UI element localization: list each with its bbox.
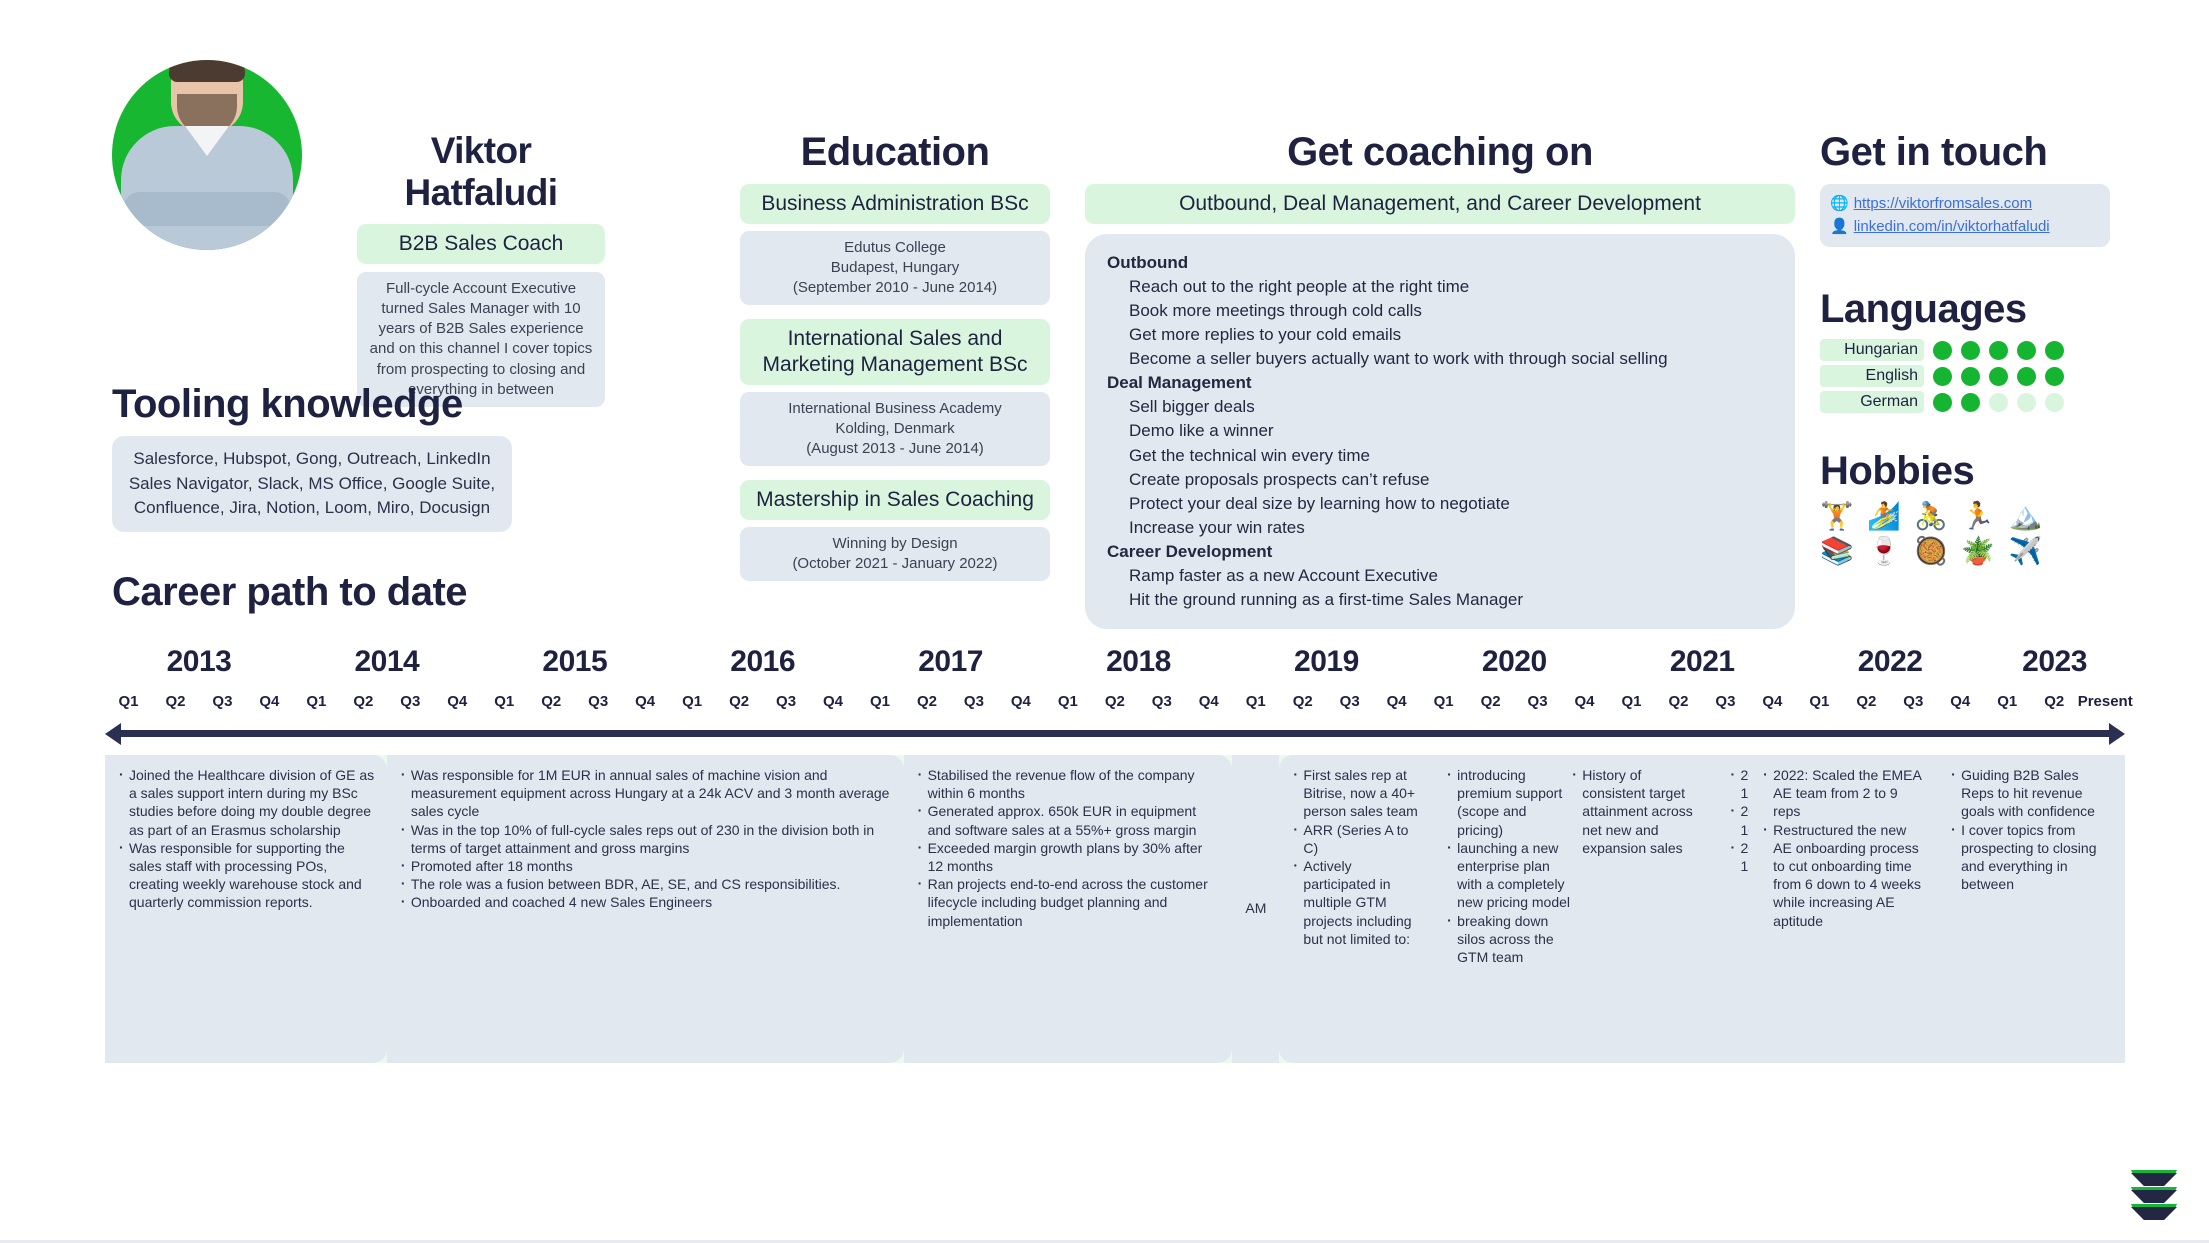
timeline-quarter-label: Q4	[622, 693, 669, 710]
timeline-year-label: 2015	[481, 645, 669, 679]
person-icon: 👤	[1830, 216, 1849, 239]
timeline-quarter-label: Q4	[1185, 693, 1232, 710]
level-dot	[1989, 341, 2008, 360]
coaching-item: Increase your win rates	[1107, 516, 1773, 540]
coaching-item: Get the technical win every time	[1107, 444, 1773, 468]
avatar	[112, 60, 302, 250]
detail-bullet: Exceeded margin growth plans by 30% afte…	[916, 839, 1221, 875]
career-heading: Career path to date	[112, 570, 467, 614]
detail-bullet: Guiding B2B Sales Reps to hit revenue go…	[1949, 766, 2113, 821]
hobbies-heading: Hobbies	[1820, 449, 2110, 493]
detail-bullet: Stabilised the revenue flow of the compa…	[916, 766, 1221, 802]
timeline-year-label: 2013	[105, 645, 293, 679]
timeline-year-label: 2017	[857, 645, 1045, 679]
timeline-quarter-label: Q4	[1561, 693, 1608, 710]
avatar-hair	[169, 60, 245, 82]
resume-infographic: Viktor Hatfaludi B2B Sales Coach Full-cy…	[0, 0, 2209, 1243]
coaching-group-label: Outbound	[1107, 251, 1773, 275]
timeline-quarter-label: Q1	[1044, 693, 1091, 710]
timeline-role-bar[interactable]: AM	[1232, 755, 1279, 1063]
timeline-quarter-label: Q1	[1232, 693, 1279, 710]
level-dot	[1989, 393, 2008, 412]
timeline-year-label: 2020	[1420, 645, 1608, 679]
coaching-item: Become a seller buyers actually want to …	[1107, 347, 1773, 371]
level-dot	[2045, 367, 2064, 386]
timeline-quarter-label: Q4	[1749, 693, 1796, 710]
timeline-quarter-label: Q4	[1937, 693, 1984, 710]
timeline-quarter-label: Q2	[1279, 693, 1326, 710]
detail-bullet: Ran projects end-to-end across the custo…	[916, 875, 1221, 930]
identity-block: Viktor Hatfaludi B2B Sales Coach Full-cy…	[357, 130, 605, 407]
coaching-section: Get coaching on Outbound, Deal Managemen…	[1085, 130, 1795, 629]
timeline-quarter-label: Q3	[1702, 693, 1749, 710]
coaching-group-label: Deal Management	[1107, 371, 1773, 395]
detail-bullet: launching a new enterprise plan with a c…	[1445, 839, 1570, 912]
coaching-item: Reach out to the right people at the rig…	[1107, 275, 1773, 299]
timeline-quarter-label: Present	[2078, 693, 2125, 710]
axis-arrow-right-icon	[2109, 723, 2125, 745]
education-detail: Winning by Design (October 2021 - Januar…	[740, 527, 1050, 582]
language-row: Hungarian	[1820, 339, 2110, 361]
timeline-year-label: 2018	[1045, 645, 1233, 679]
language-level	[1933, 367, 2064, 386]
language-name: English	[1820, 365, 1924, 387]
level-dot	[2017, 393, 2036, 412]
coaching-item: Sell bigger deals	[1107, 395, 1773, 419]
education-detail: International Business Academy Kolding, …	[740, 392, 1050, 467]
timeline-quarter-label: Q2	[340, 693, 387, 710]
detail-bullet: breaking down silos across the GTM team	[1445, 912, 1570, 967]
timeline-quarter-label: Q3	[1138, 693, 1185, 710]
level-dot	[1933, 367, 1952, 386]
detail-bullet: I cover topics from prospecting to closi…	[1949, 821, 2113, 894]
timeline-quarter-label: Q1	[481, 693, 528, 710]
tooling-body: Salesforce, Hubspot, Gong, Outreach, Lin…	[112, 436, 512, 532]
detail-bullet: Actively participated in multiple GTM pr…	[1291, 857, 1423, 948]
timeline-quarter-label: Q1	[669, 693, 716, 710]
level-dot	[2045, 341, 2064, 360]
detail-bullet: The role was a fusion between BDR, AE, S…	[399, 875, 892, 893]
coaching-subtitle: Outbound, Deal Management, and Career De…	[1085, 184, 1795, 224]
timeline-year-label: 2019	[1232, 645, 1420, 679]
timeline-quarter-label: Q3	[950, 693, 997, 710]
education-detail: Edutus College Budapest, Hungary (Septem…	[740, 231, 1050, 306]
coaching-item: Get more replies to your cold emails	[1107, 323, 1773, 347]
coaching-item: Protect your deal size by learning how t…	[1107, 492, 1773, 516]
timeline-quarter-label: Q1	[1608, 693, 1655, 710]
timeline-quarter-label: Q2	[1655, 693, 1702, 710]
education-section: Education Business Administration BSc Ed…	[740, 130, 1050, 581]
timeline-details-row: Joined the Healthcare division of GE as …	[105, 873, 2125, 1063]
language-level	[1933, 393, 2064, 412]
coaching-item: Ramp faster as a new Account Executive	[1107, 564, 1773, 588]
timeline-year-label: 2023	[1984, 645, 2125, 679]
language-row: German	[1820, 391, 2110, 413]
languages-heading: Languages	[1820, 287, 2110, 331]
timeline-quarter-label: Q1	[1984, 693, 2031, 710]
timeline-quarter-label: Q1	[1796, 693, 1843, 710]
tooling-section: Tooling knowledge Salesforce, Hubspot, G…	[112, 382, 512, 532]
timeline-quarter-label: Q2	[903, 693, 950, 710]
contact-website-row[interactable]: 🌐 https://viktorfromsales.com	[1830, 193, 2100, 216]
timeline-quarter-label: Q2	[716, 693, 763, 710]
languages-list: Hungarian English	[1820, 339, 2110, 413]
timeline-detail-box: Was responsible for 1M EUR in annual sal…	[387, 755, 904, 1063]
detail-bullet: History of consistent target attainment …	[1570, 766, 1706, 857]
brand-logo-icon	[2131, 1173, 2177, 1221]
website-link[interactable]: https://viktorfromsales.com	[1854, 193, 2032, 216]
coaching-item: Demo like a winner	[1107, 419, 1773, 443]
career-timeline: 2013201420152016201720182019202020212022…	[105, 645, 2125, 1063]
timeline-year-label: 2022	[1796, 645, 1984, 679]
detail-bullet: Generated approx. 650k EUR in equipment …	[916, 802, 1221, 838]
education-degree: International Sales and Marketing Manage…	[740, 319, 1050, 384]
detail-bullet: Was responsible for 1M EUR in annual sal…	[399, 766, 892, 821]
language-row: English	[1820, 365, 2110, 387]
hobbies-row-1: 🏋️ 🏄 🚴 🏃 🏔️	[1820, 499, 2110, 534]
level-dot	[1989, 367, 2008, 386]
right-column: Get in touch 🌐 https://viktorfromsales.c…	[1820, 130, 2110, 568]
timeline-quarter-label: Q1	[857, 693, 904, 710]
coaching-heading: Get coaching on	[1085, 130, 1795, 174]
contact-linkedin-row[interactable]: 👤 linkedin.com/in/viktorhatfaludi	[1830, 216, 2100, 239]
level-dot	[2017, 341, 2036, 360]
timeline-quarter-label: Q3	[387, 693, 434, 710]
education-heading: Education	[740, 130, 1050, 174]
timeline-quarter-label: Q3	[199, 693, 246, 710]
timeline-quarter-label: Q1	[1420, 693, 1467, 710]
timeline-year-label: 2016	[669, 645, 857, 679]
coaching-list: Outbound Reach out to the right people a…	[1085, 234, 1795, 630]
contact-heading: Get in touch	[1820, 130, 2110, 174]
axis-line	[119, 730, 2111, 737]
timeline-year-label: 2014	[293, 645, 481, 679]
timeline-years: 2013201420152016201720182019202020212022…	[105, 645, 2125, 679]
timeline-quarter-label: Q3	[1890, 693, 1937, 710]
coaching-item: Create proposals prospects can’t refuse	[1107, 468, 1773, 492]
level-dot	[1933, 393, 1952, 412]
person-title: B2B Sales Coach	[357, 224, 605, 264]
timeline-year-label: 2021	[1608, 645, 1796, 679]
coaching-group-label: Career Development	[1107, 540, 1773, 564]
detail-bullet: ARR (Series A to C)	[1291, 821, 1423, 857]
tooling-heading: Tooling knowledge	[112, 382, 512, 426]
detail-bullet: Onboarded and coached 4 new Sales Engine…	[399, 893, 892, 911]
timeline-quarter-label: Q3	[1326, 693, 1373, 710]
timeline-quarter-label: Q2	[528, 693, 575, 710]
timeline-quarter-label: Q2	[152, 693, 199, 710]
linkedin-link[interactable]: linkedin.com/in/viktorhatfaludi	[1854, 216, 2050, 239]
level-dot	[1961, 367, 1980, 386]
detail-bullet: Joined the Healthcare division of GE as …	[117, 766, 375, 839]
timeline-quarter-label: Q4	[810, 693, 857, 710]
contact-box: 🌐 https://viktorfromsales.com 👤 linkedin…	[1820, 184, 2110, 247]
detail-bullet: Was responsible for supporting the sales…	[117, 839, 375, 912]
timeline-quarter-label: Q2	[1091, 693, 1138, 710]
hobbies-row-2: 📚 🍷 🥘 🪴 ✈️	[1820, 534, 2110, 569]
timeline-quarter-label: Q1	[293, 693, 340, 710]
detail-bullet: introducing premium support (scope and p…	[1445, 766, 1570, 839]
coaching-item: Book more meetings through cold calls	[1107, 299, 1773, 323]
avatar-arms	[123, 192, 291, 226]
timeline-detail-box: Guiding B2B Sales Reps to hit revenue go…	[1937, 755, 2125, 1063]
language-name: German	[1820, 391, 1924, 413]
timeline-quarter-label: Q3	[763, 693, 810, 710]
level-dot	[1933, 341, 1952, 360]
person-name: Viktor Hatfaludi	[357, 130, 605, 214]
timeline-detail-box: Joined the Healthcare division of GE as …	[105, 755, 387, 1063]
timeline-quarter-label: Q2	[1467, 693, 1514, 710]
detail-bullet: Restructured the new AE onboarding proce…	[1761, 821, 1925, 930]
timeline-detail-box: 2022: Scaled the EMEA AE team from 2 to …	[1749, 755, 1937, 1063]
timeline-quarters: Q1Q2Q3Q4Q1Q2Q3Q4Q1Q2Q3Q4Q1Q2Q3Q4Q1Q2Q3Q4…	[105, 693, 2125, 710]
coaching-item: Hit the ground running as a first-time S…	[1107, 588, 1773, 612]
detail-bullet: Was in the top 10% of full-cycle sales r…	[399, 821, 892, 857]
education-degree: Business Administration BSc	[740, 184, 1050, 224]
globe-icon: 🌐	[1830, 193, 1849, 216]
level-dot	[2017, 367, 2036, 386]
timeline-quarter-label: Q4	[246, 693, 293, 710]
education-degree: Mastership in Sales Coaching	[740, 480, 1050, 520]
detail-bullet: First sales rep at Bitrise, now a 40+ pe…	[1291, 766, 1423, 821]
detail-bullet: 2022: Scaled the EMEA AE team from 2 to …	[1761, 766, 1925, 821]
level-dot	[1961, 393, 1980, 412]
timeline-axis	[105, 723, 2125, 745]
level-dot	[2045, 393, 2064, 412]
timeline-quarter-label: Q4	[434, 693, 481, 710]
timeline-quarter-label: Q2	[2031, 693, 2078, 710]
timeline-detail-box: Stabilised the revenue flow of the compa…	[904, 755, 1233, 1063]
timeline-quarter-label: Q3	[1514, 693, 1561, 710]
detail-bullet: Promoted after 18 months	[399, 857, 892, 875]
timeline-quarter-label: Q2	[1843, 693, 1890, 710]
timeline-quarter-label: Q3	[575, 693, 622, 710]
language-name: Hungarian	[1820, 339, 1924, 361]
timeline-quarter-label: Q4	[997, 693, 1044, 710]
level-dot	[1961, 341, 1980, 360]
timeline-quarter-label: Q1	[105, 693, 152, 710]
timeline-quarter-label: Q4	[1373, 693, 1420, 710]
language-level	[1933, 341, 2064, 360]
